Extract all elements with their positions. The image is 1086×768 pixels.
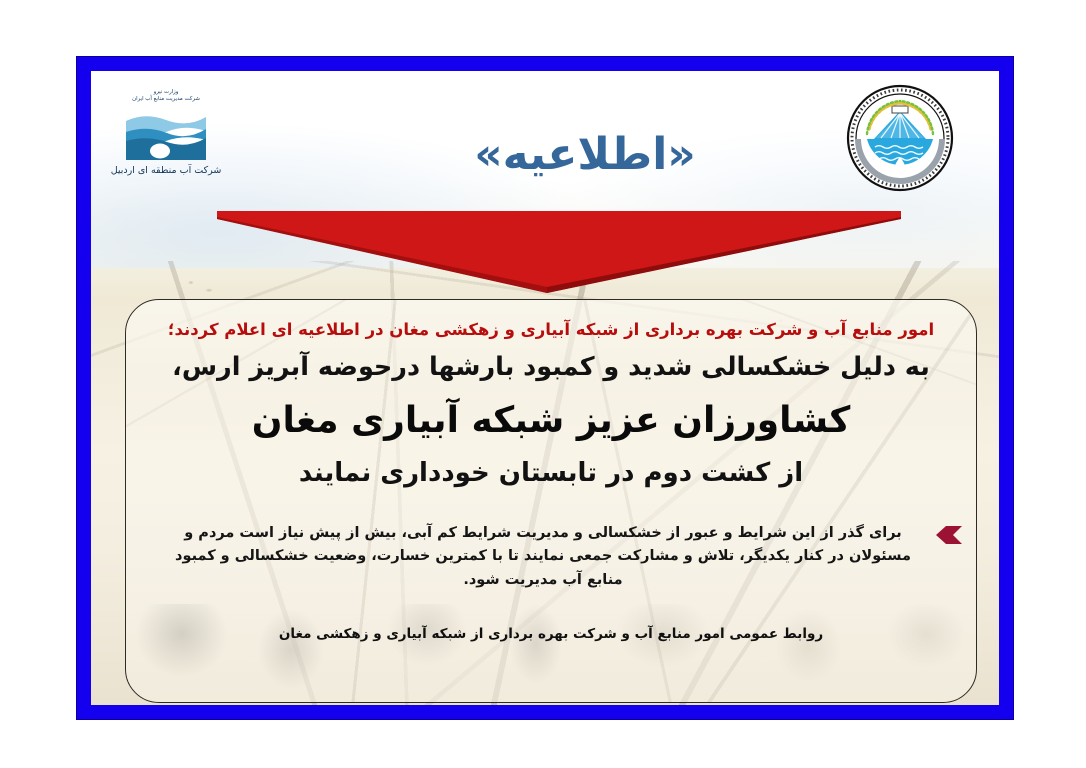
moghan-company-seal bbox=[845, 83, 955, 193]
logo-left-company-name: شرکت آب منطقه ای اردبیل bbox=[91, 165, 241, 176]
dam-and-water-seal-icon bbox=[845, 83, 955, 193]
headline-line-3: کشاورزان عزیز شبکه آبیاری مغان bbox=[126, 400, 976, 442]
public-relations-signature: روابط عمومی امور منابع آب و شرکت بهره بر… bbox=[126, 626, 976, 642]
notice-paragraph-block: برای گذر از این شرایط و عبور از خشکسالی … bbox=[140, 522, 962, 592]
red-chevron-banner bbox=[217, 209, 901, 293]
ardabil-water-company-logo: وزارت نیرو شرکت مدیریت منابع آب ایران bbox=[91, 89, 241, 176]
headline-line-4: از کشت دوم در تابستان خودداری نمایند bbox=[126, 458, 976, 489]
red-down-chevron-shape bbox=[217, 209, 901, 293]
notice-content-card: امور منابع آب و شرکت بهره برداری از شبکه… bbox=[125, 299, 977, 703]
chevron-arrow-bullet-icon bbox=[936, 526, 962, 544]
notice-poster: وزارت نیرو شرکت مدیریت منابع آب ایران bbox=[0, 0, 1086, 768]
blue-border-frame: وزارت نیرو شرکت مدیریت منابع آب ایران bbox=[76, 56, 1014, 720]
poster-header: وزارت نیرو شرکت مدیریت منابع آب ایران bbox=[91, 71, 999, 221]
poster-inner-canvas: وزارت نیرو شرکت مدیریت منابع آب ایران bbox=[91, 71, 999, 705]
headline-lead-red: امور منابع آب و شرکت بهره برداری از شبکه… bbox=[126, 320, 976, 340]
headline-line-2: به دلیل خشکسالی شدید و کمبود بارشها درحو… bbox=[126, 352, 976, 383]
maroon-chevron-icon bbox=[936, 526, 962, 544]
page-title: «اطلاعیه» bbox=[435, 133, 735, 177]
notice-paragraph-text: برای گذر از این شرایط و عبور از خشکسالی … bbox=[140, 522, 928, 592]
water-wave-mark bbox=[123, 107, 209, 163]
logo-left-top-line2: شرکت مدیریت منابع آب ایران bbox=[91, 96, 241, 103]
